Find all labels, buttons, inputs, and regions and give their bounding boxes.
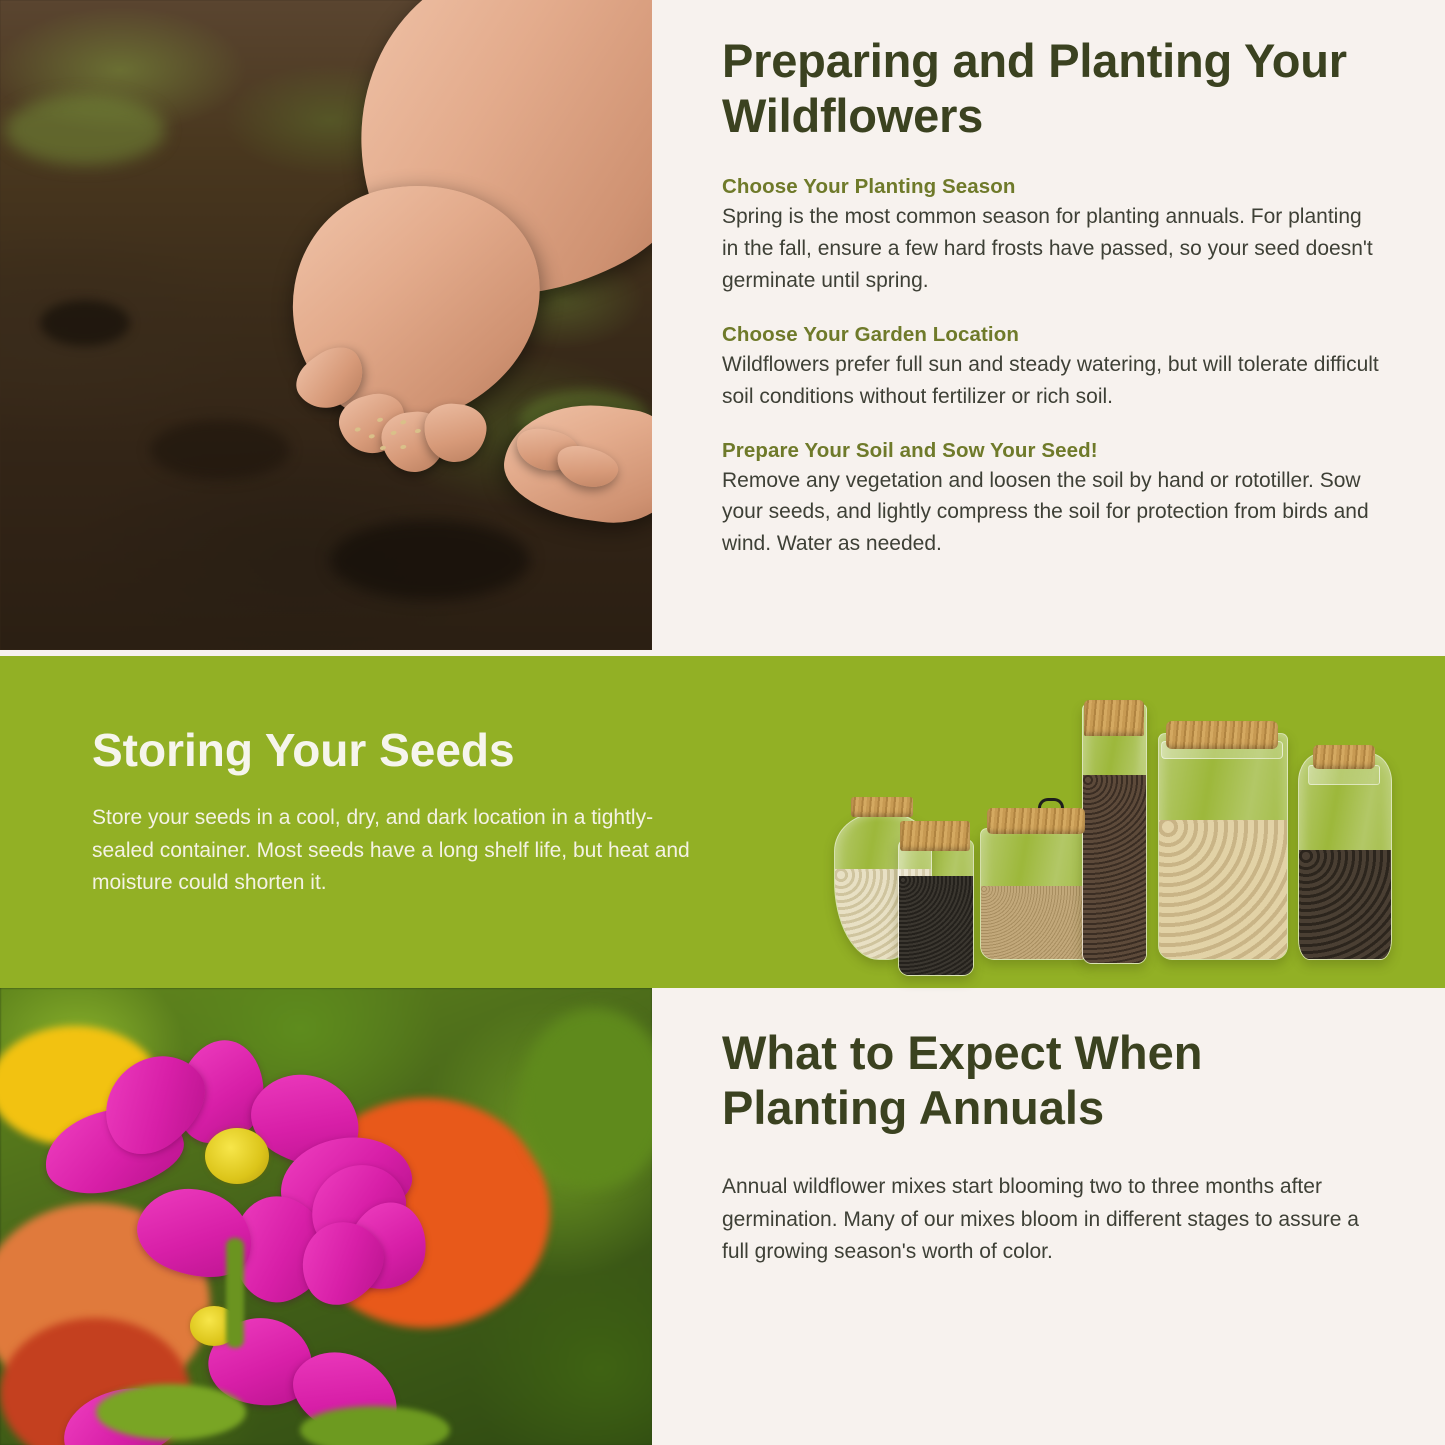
subheading-garden-location: Choose Your Garden Location [722, 323, 1382, 347]
jar-sunflower-seeds [1298, 753, 1390, 958]
soil-clod [150, 420, 290, 480]
jar-pumpkin-seeds [1158, 733, 1286, 958]
leaf [96, 1384, 246, 1440]
cork-lid [1313, 745, 1375, 769]
cork-lid [851, 797, 913, 817]
soil-planting-photo [0, 0, 652, 650]
section-what-to-expect: What to Expect When Planting Annuals Ann… [0, 988, 1445, 1445]
subheading-prepare-soil: Prepare Your Soil and Sow Your Seed! [722, 439, 1382, 463]
storing-copy-column: Storing Your Seeds Store your seeds in a… [92, 726, 712, 900]
planting-copy-column: Preparing and Planting Your Wildflowers … [722, 34, 1382, 560]
jar-grain-seed [980, 828, 1092, 958]
cork-lid [900, 821, 970, 851]
jar-black-seed [898, 839, 972, 974]
body-planting-season: Spring is the most common season for pla… [722, 201, 1382, 297]
stem [226, 1238, 244, 1348]
subheading-planting-season: Choose Your Planting Season [722, 175, 1382, 199]
wildflower-photo [0, 988, 652, 1445]
cork-lid [987, 808, 1085, 834]
infographic-page: Preparing and Planting Your Wildflowers … [0, 0, 1445, 1445]
storing-body: Store your seeds in a cool, dry, and dar… [92, 802, 712, 900]
section-preparing-and-planting: Preparing and Planting Your Wildflowers … [0, 0, 1445, 656]
cork-lid [1166, 721, 1278, 749]
info-block-prepare-soil: Prepare Your Soil and Sow Your Seed! Rem… [722, 439, 1382, 561]
cork-lid [1084, 700, 1144, 736]
flower-center [205, 1128, 269, 1184]
soil-clod [40, 300, 130, 346]
expect-copy-column: What to Expect When Planting Annuals Ann… [722, 1026, 1382, 1269]
expect-title: What to Expect When Planting Annuals [722, 1026, 1382, 1135]
page-title: Preparing and Planting Your Wildflowers [722, 34, 1382, 143]
body-garden-location: Wildflowers prefer full sun and steady w… [722, 349, 1382, 413]
seed-jars-photo [828, 670, 1388, 980]
storing-title: Storing Your Seeds [92, 726, 712, 774]
section-storing-your-seeds: Storing Your Seeds Store your seeds in a… [0, 656, 1445, 988]
info-block-garden-location: Choose Your Garden Location Wildflowers … [722, 323, 1382, 413]
sprout-blur [5, 95, 165, 165]
info-block-planting-season: Choose Your Planting Season Spring is th… [722, 175, 1382, 297]
soil-clod [330, 520, 530, 600]
jar-tall-dark-seed [1082, 704, 1145, 962]
body-prepare-soil: Remove any vegetation and loosen the soi… [722, 465, 1382, 561]
expect-body: Annual wildflower mixes start blooming t… [722, 1171, 1382, 1269]
